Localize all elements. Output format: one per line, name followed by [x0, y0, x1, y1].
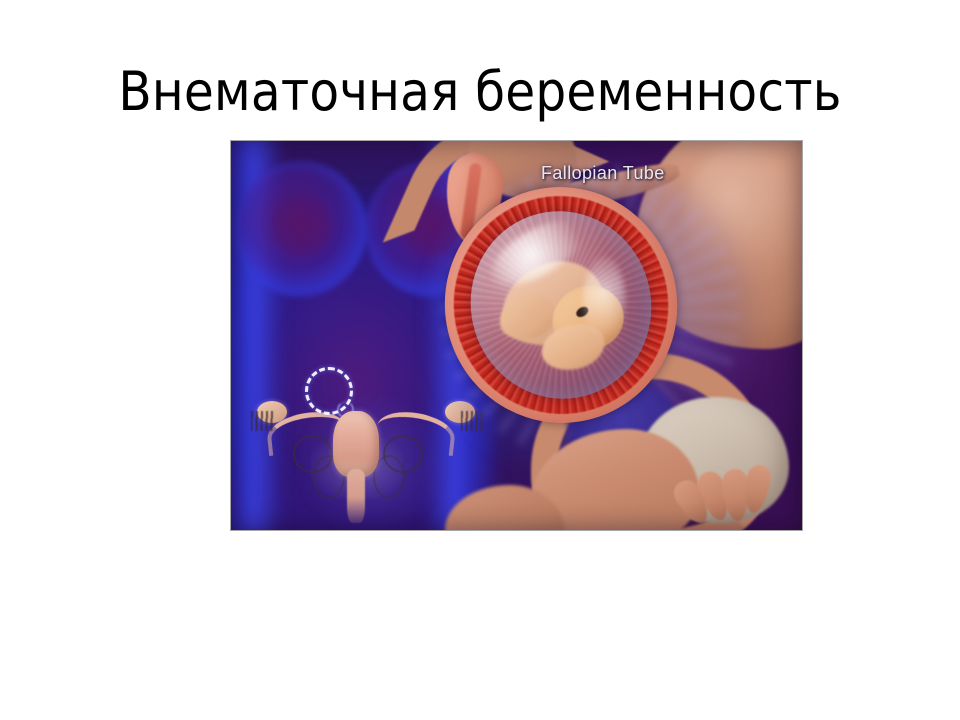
fimbriae-left — [251, 411, 273, 431]
uterus-body — [333, 411, 379, 477]
ectopic-site-highlight-circle — [305, 367, 353, 415]
sac-highlight-secondary — [583, 257, 625, 343]
areola-left — [271, 195, 333, 257]
slide-canvas: Внематочная беременность — [0, 0, 960, 720]
page-title: Внематочная беременность — [0, 62, 960, 122]
cervix-vagina — [347, 469, 365, 523]
fallopian-tube-label: Fallopian Tube — [541, 163, 665, 184]
ectopic-pregnancy-illustration[interactable]: Fallopian Tube — [231, 141, 802, 530]
